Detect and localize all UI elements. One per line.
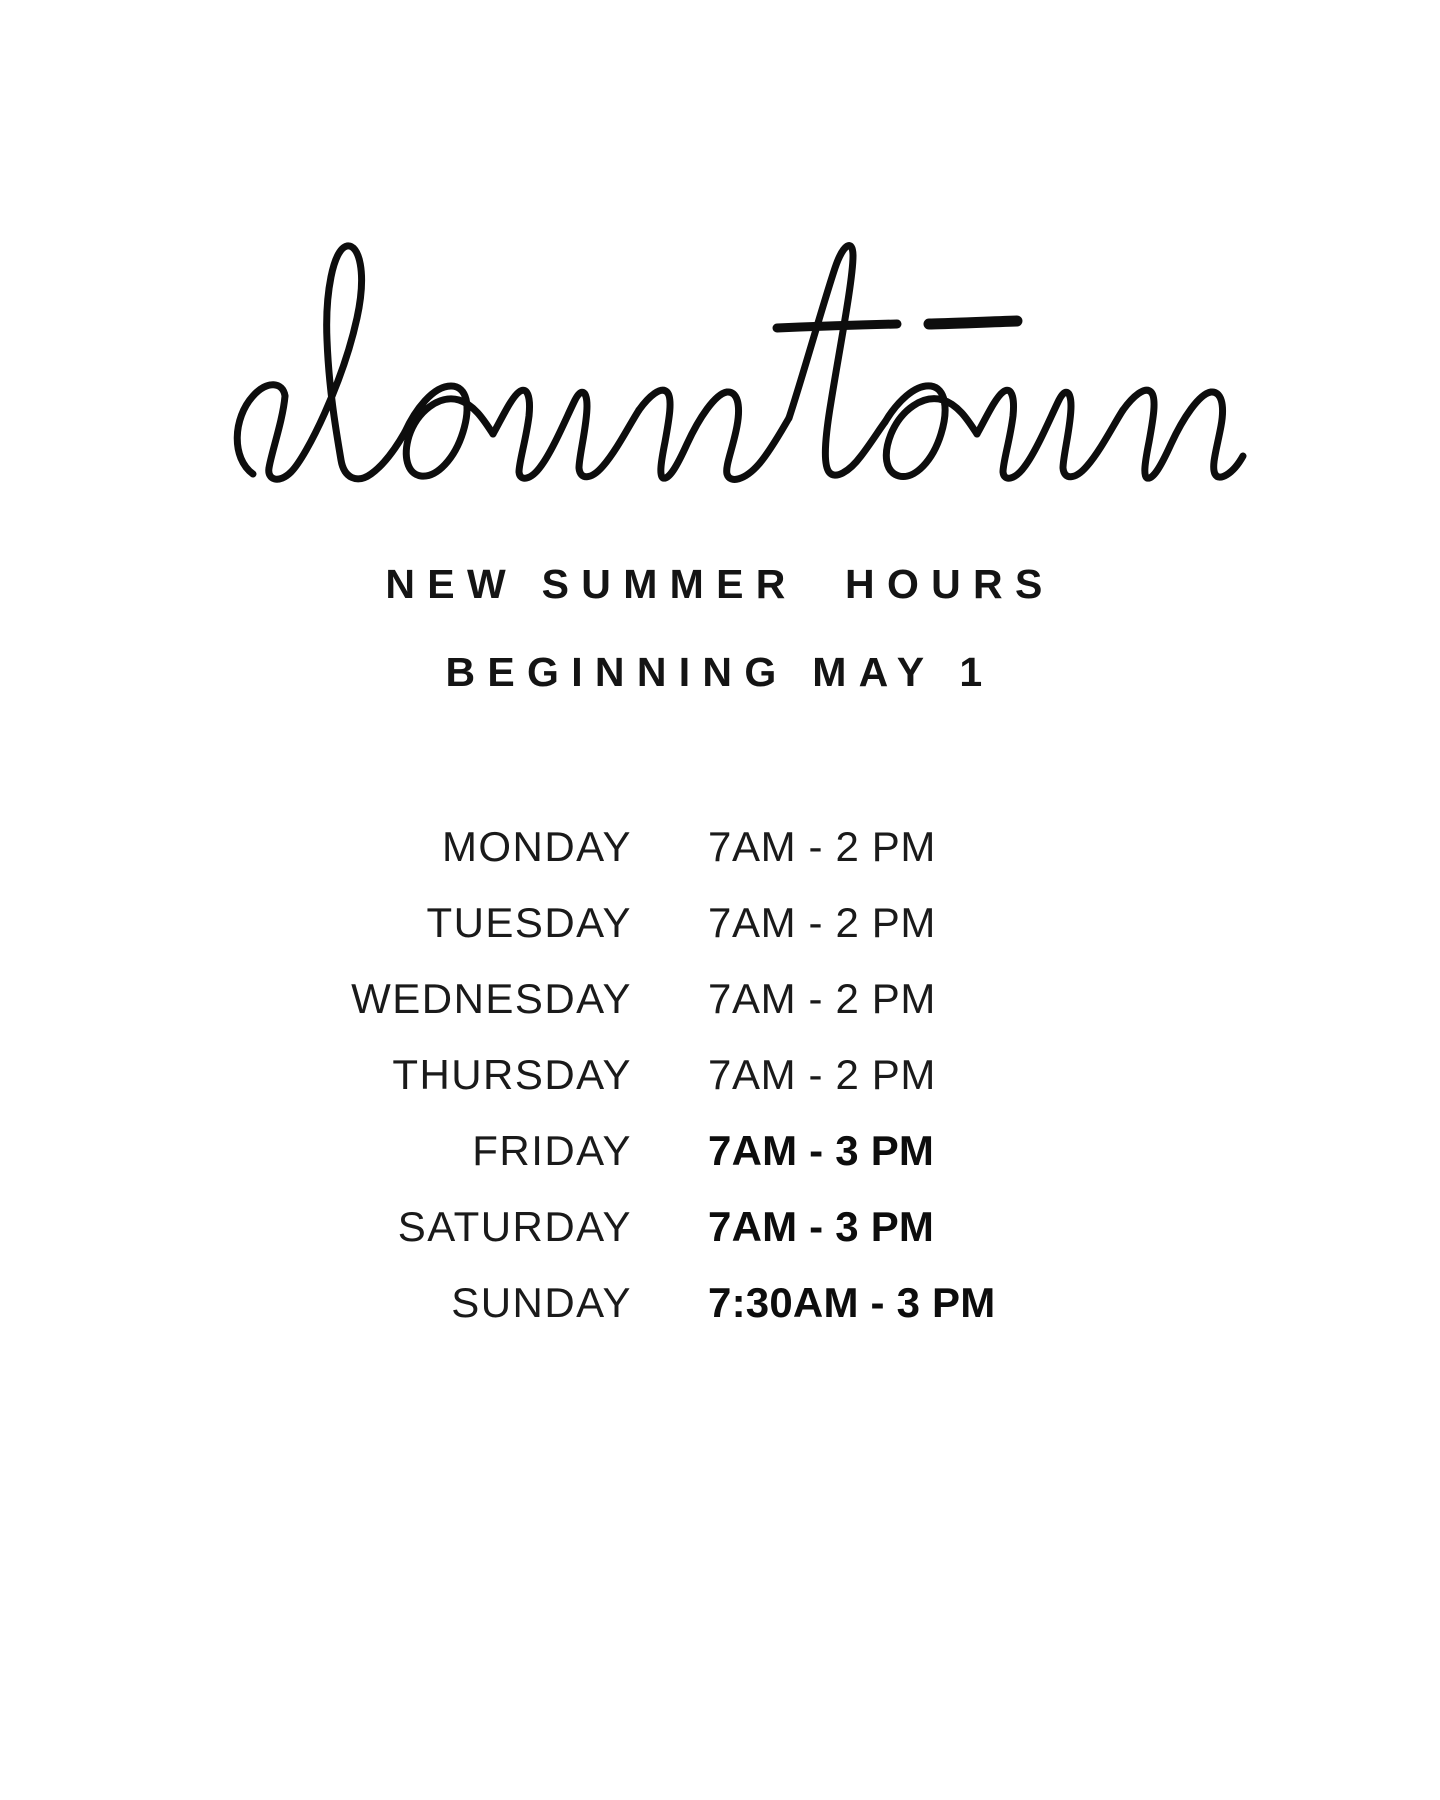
day-label-sunday: SUNDAY xyxy=(332,1273,632,1333)
day-label-friday: FRIDAY xyxy=(332,1121,632,1181)
downtown-script-icon xyxy=(175,222,1265,492)
time-value-friday: 7AM - 3 PM xyxy=(708,1121,1108,1181)
time-value-saturday: 7AM - 3 PM xyxy=(708,1197,1108,1257)
time-value-wednesday: 7AM - 2 PM xyxy=(708,969,1108,1029)
headline-line-2: BEGINNING MAY 1 xyxy=(385,652,1054,693)
time-value-thursday: 7AM - 2 PM xyxy=(708,1045,1108,1105)
day-label-tuesday: TUESDAY xyxy=(332,893,632,953)
column-gap xyxy=(632,877,708,937)
headline-line-1: NEW SUMMER HOURS xyxy=(385,564,1054,605)
column-gap xyxy=(632,953,708,1013)
day-label-saturday: SATURDAY xyxy=(332,1197,632,1257)
poster-canvas: NEW SUMMER HOURS BEGINNING MAY 1 MONDAY … xyxy=(0,0,1440,1800)
day-label-thursday: THURSDAY xyxy=(332,1045,632,1105)
column-gap xyxy=(632,1105,708,1165)
day-label-wednesday: WEDNESDAY xyxy=(332,969,632,1029)
day-label-monday: MONDAY xyxy=(332,817,632,877)
time-value-monday: 7AM - 2 PM xyxy=(708,817,1108,877)
time-value-sunday: 7:30AM - 3 PM xyxy=(708,1273,1108,1333)
column-gap xyxy=(632,801,708,861)
column-gap xyxy=(632,1257,708,1317)
hours-table: MONDAY 7AM - 2 PM TUESDAY 7AM - 2 PM WED… xyxy=(332,801,1108,1333)
time-value-tuesday: 7AM - 2 PM xyxy=(708,893,1108,953)
headline-block: NEW SUMMER HOURS BEGINNING MAY 1 xyxy=(385,564,1054,693)
column-gap xyxy=(632,1029,708,1089)
column-gap xyxy=(632,1181,708,1241)
brand-logo-downtown xyxy=(175,222,1265,492)
